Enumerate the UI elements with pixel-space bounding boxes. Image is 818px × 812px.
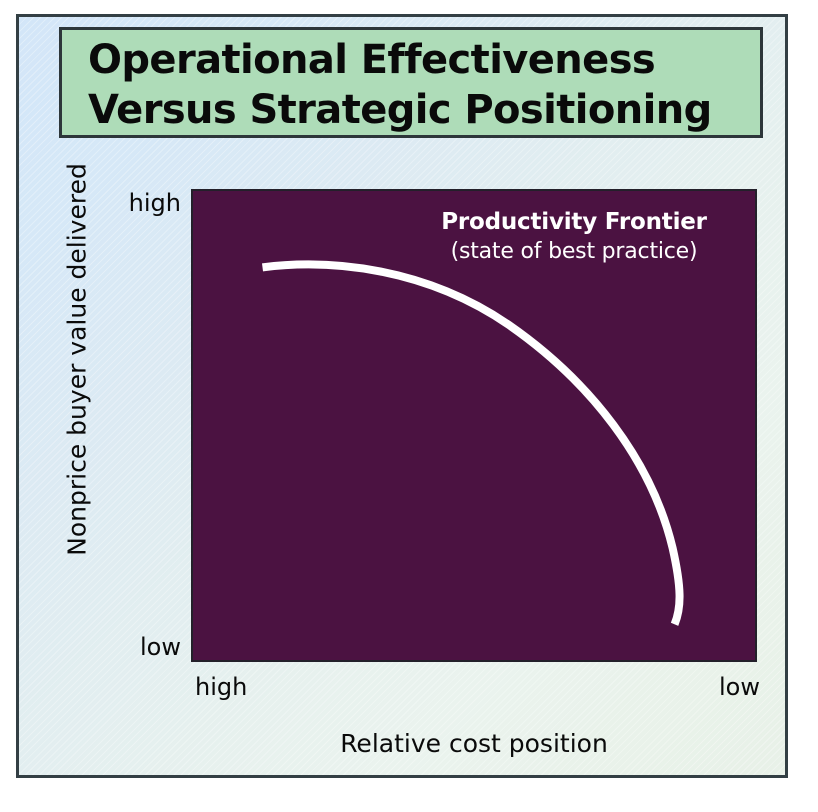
plot-area: Productivity Frontier (state of best pra… — [191, 189, 757, 662]
x-axis-title: Relative cost position — [191, 729, 757, 758]
y-axis-title: Nonprice buyer value delivered — [63, 160, 92, 560]
page-title: Operational Effectiveness Versus Strateg… — [88, 35, 752, 135]
title-box: Operational Effectiveness Versus Strateg… — [59, 27, 763, 138]
slide-canvas: Operational Effectiveness Versus Strateg… — [0, 0, 818, 812]
slide-panel: Operational Effectiveness Versus Strateg… — [16, 14, 788, 778]
frontier-annotation-title: Productivity Frontier — [409, 207, 739, 237]
y-axis-tick-low: low — [140, 633, 181, 661]
x-axis-tick-low: low — [719, 673, 760, 701]
frontier-annotation: Productivity Frontier (state of best pra… — [409, 207, 739, 267]
x-axis-tick-high: high — [195, 673, 247, 701]
y-axis-tick-high: high — [129, 189, 181, 217]
frontier-annotation-subtitle: (state of best practice) — [409, 237, 739, 267]
